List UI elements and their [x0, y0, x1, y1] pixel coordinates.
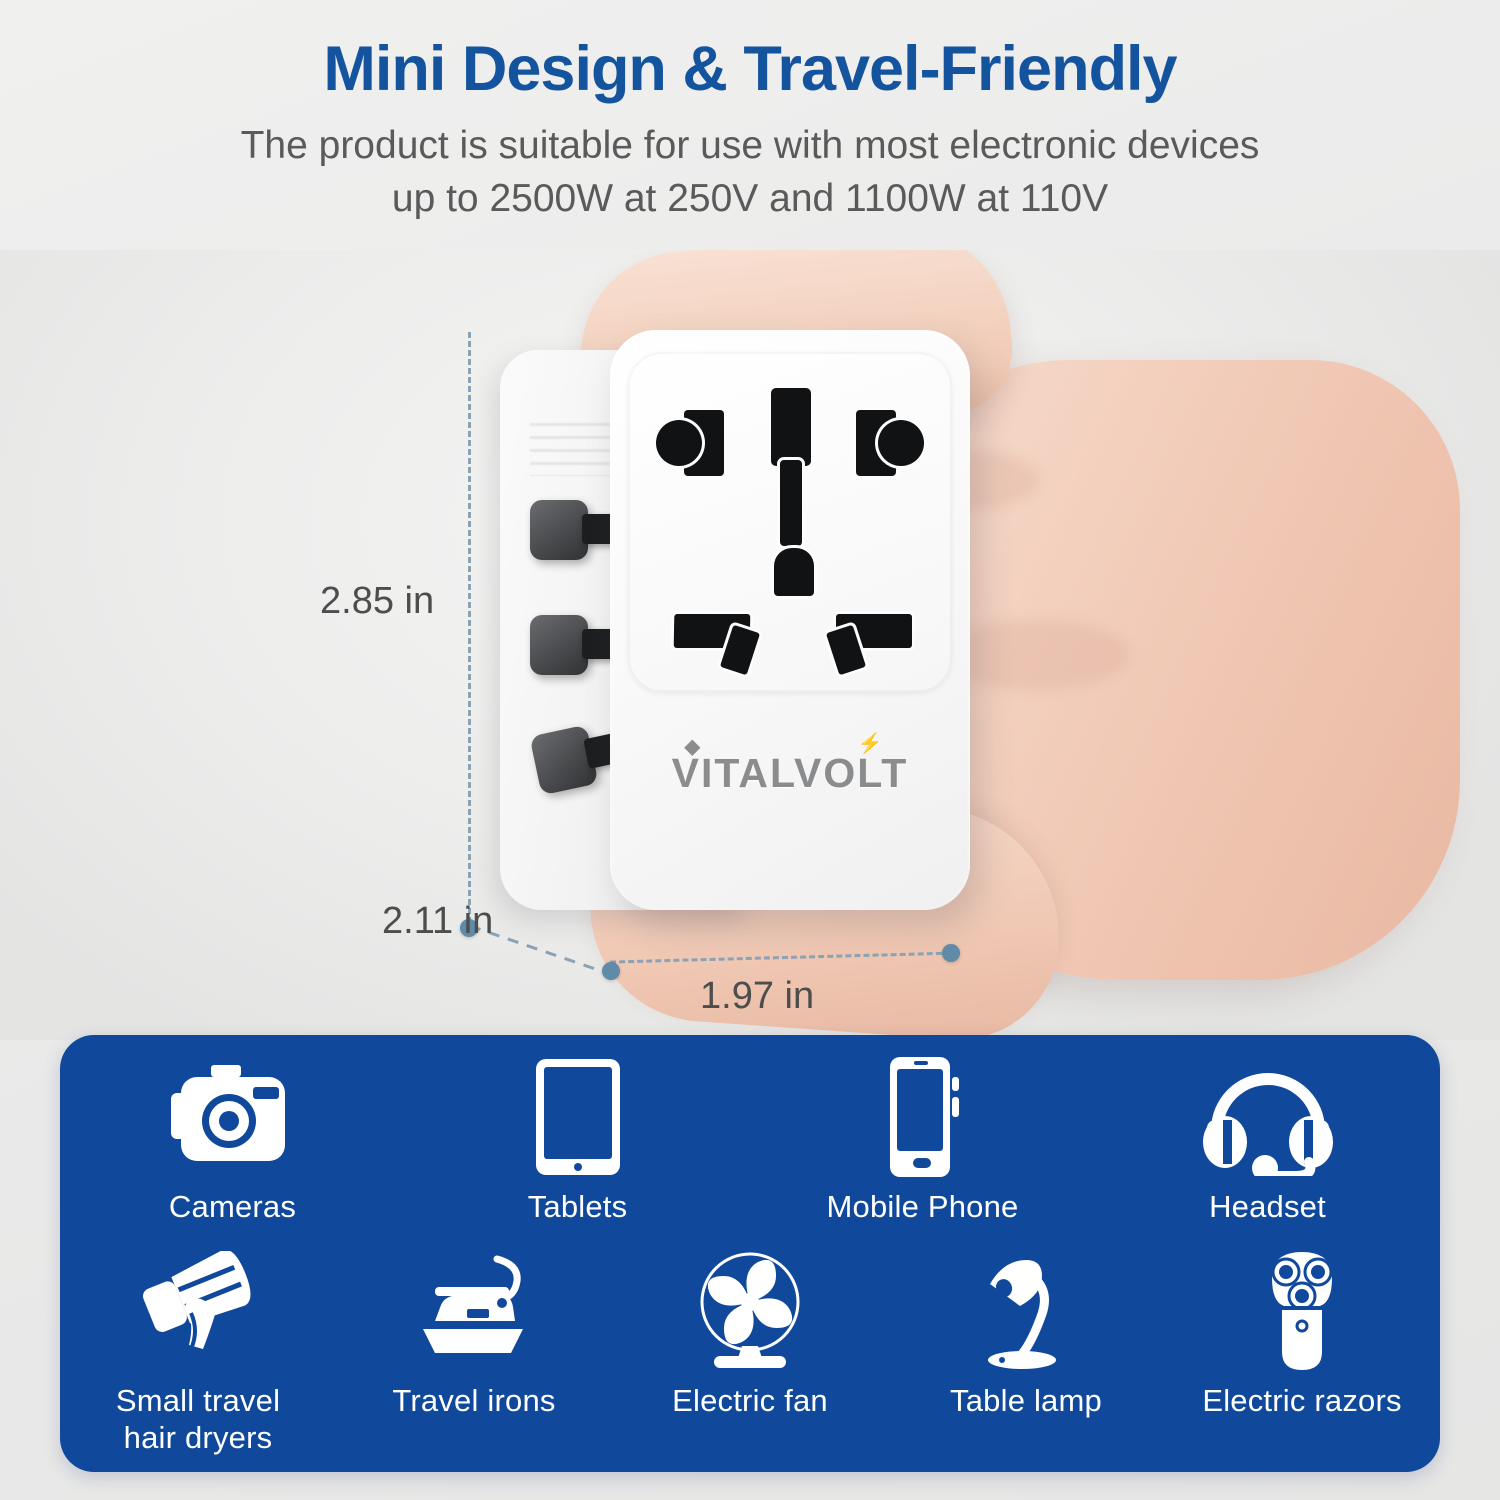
- device-label: Electric fan: [672, 1383, 828, 1420]
- adapter-face: ◆ ⚡ VITALVOLT: [610, 330, 970, 910]
- tablet-icon: [534, 1053, 622, 1181]
- device-row-2: Small travel hair dryers Travel irons: [60, 1247, 1440, 1456]
- universal-socket: [628, 352, 952, 692]
- socket-slot-earth: [774, 548, 814, 596]
- brand-mark-right-icon: ⚡: [858, 731, 885, 756]
- subtitle-line-1: The product is suitable for use with mos…: [241, 124, 1260, 167]
- subtitle-line-2: up to 2500W at 250V and 1100W at 110V: [0, 173, 1500, 226]
- table-lamp-icon: [968, 1247, 1084, 1375]
- brand-mark-left-icon: ◆: [685, 734, 702, 759]
- socket-slot-center-stem: [780, 460, 802, 546]
- prong-slider[interactable]: [529, 725, 598, 796]
- product-photo: ◆ ⚡ VITALVOLT 2.85 in 2.11 in 1.97 in: [0, 250, 1500, 1040]
- device-label: Tablets: [528, 1189, 628, 1226]
- device-item-mobile-phone: Mobile Phone: [750, 1053, 1095, 1226]
- device-label-line-1: Small travel: [116, 1383, 280, 1418]
- socket-slot-left-round: [656, 420, 702, 466]
- prong-slider[interactable]: [530, 615, 588, 675]
- device-label: Small travel hair dryers: [116, 1383, 280, 1456]
- header-block: Mini Design & Travel-Friendly The produc…: [0, 0, 1500, 225]
- brand-area: ◆ ⚡ VITALVOLT: [610, 750, 970, 797]
- hair-dryer-icon: [133, 1247, 263, 1375]
- device-row-1: Cameras Tablets: [60, 1053, 1440, 1226]
- dimension-label-depth: 2.11 in: [382, 900, 493, 943]
- prong-slider[interactable]: [530, 500, 588, 560]
- device-item-tablets: Tablets: [405, 1053, 750, 1226]
- device-item-travel-irons: Travel irons: [336, 1247, 612, 1456]
- device-item-electric-razors: Electric razors: [1164, 1247, 1440, 1456]
- socket-slot-right-round: [878, 420, 924, 466]
- page-title: Mini Design & Travel-Friendly: [0, 0, 1500, 102]
- socket-slot-center-top: [771, 388, 811, 466]
- dimension-label-width: 1.97 in: [700, 975, 814, 1018]
- headset-icon: [1201, 1053, 1335, 1181]
- brand-logo: ◆ ⚡ VITALVOLT: [672, 750, 909, 797]
- travel-adapter: ◆ ⚡ VITALVOLT: [500, 330, 970, 930]
- device-label: Table lamp: [950, 1383, 1102, 1420]
- mobile-phone-icon: [884, 1053, 962, 1181]
- device-label-line-2: hair dryers: [124, 1420, 273, 1455]
- compatible-devices-panel: Cameras Tablets: [60, 1035, 1440, 1472]
- infographic-page: Mini Design & Travel-Friendly The produc…: [0, 0, 1500, 1500]
- device-label: Cameras: [169, 1189, 296, 1226]
- dimension-node: [942, 944, 960, 962]
- device-label: Travel irons: [392, 1383, 555, 1420]
- device-item-headset: Headset: [1095, 1053, 1440, 1226]
- fan-icon: [688, 1247, 812, 1375]
- iron-icon: [401, 1247, 547, 1375]
- device-label: Electric razors: [1202, 1383, 1401, 1420]
- device-label: Mobile Phone: [827, 1189, 1019, 1226]
- page-subtitle: The product is suitable for use with mos…: [0, 102, 1500, 225]
- electric-razor-icon: [1250, 1247, 1354, 1375]
- dimension-line-height: [468, 332, 471, 932]
- device-item-cameras: Cameras: [60, 1053, 405, 1226]
- camera-icon: [167, 1053, 299, 1181]
- dimension-node: [602, 962, 620, 980]
- device-item-hair-dryers: Small travel hair dryers: [60, 1247, 336, 1456]
- device-label: Headset: [1209, 1189, 1326, 1226]
- device-item-table-lamp: Table lamp: [888, 1247, 1164, 1456]
- brand-text: VITALVOLT: [672, 750, 909, 796]
- device-item-electric-fan: Electric fan: [612, 1247, 888, 1456]
- dimension-label-height: 2.85 in: [320, 580, 434, 623]
